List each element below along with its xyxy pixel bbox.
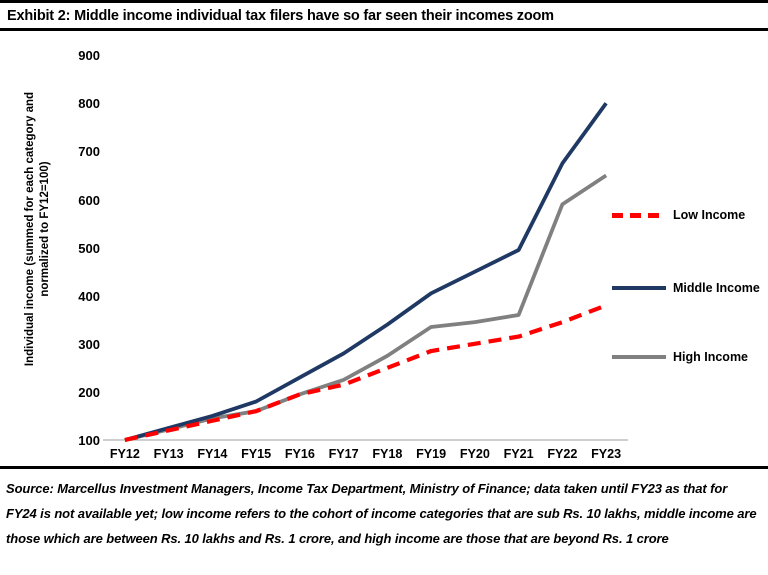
legend-item-middle-income[interactable]: Middle Income [612, 278, 760, 298]
legend-label: Low Income [673, 208, 745, 222]
x-tick-label: FY19 [409, 444, 453, 466]
line-chart-svg [103, 31, 628, 466]
y-tick-label: 900 [58, 49, 100, 62]
x-tick-label: FY23 [584, 444, 628, 466]
x-tick-label: FY14 [191, 444, 235, 466]
chart-area: Individual income (summed for each categ… [0, 31, 768, 466]
page-title: Exhibit 2: Middle income individual tax … [0, 8, 554, 24]
x-tick-label: FY16 [278, 444, 322, 466]
plot-region [103, 31, 628, 466]
y-tick-label: 400 [58, 290, 100, 303]
legend-item-low-income[interactable]: Low Income [612, 205, 745, 225]
legend-swatch-icon [612, 213, 666, 218]
x-tick-label: FY12 [103, 444, 147, 466]
source-note: Source: Marcellus Investment Managers, I… [6, 476, 760, 551]
footnote-area: Source: Marcellus Investment Managers, I… [0, 466, 768, 575]
exhibit-title-bar: Exhibit 2: Middle income individual tax … [0, 0, 768, 31]
y-tick-label: 200 [58, 386, 100, 399]
y-tick-label: 800 [58, 97, 100, 110]
y-axis-title: Individual income (summed for each categ… [23, 64, 53, 394]
y-tick-label: 500 [58, 242, 100, 255]
legend-swatch-icon [612, 355, 666, 359]
x-tick-label: FY20 [453, 444, 497, 466]
y-tick-label: 700 [58, 145, 100, 158]
exhibit-container: Exhibit 2: Middle income individual tax … [0, 0, 768, 575]
x-tick-label: FY18 [366, 444, 410, 466]
legend-item-high-income[interactable]: High Income [612, 347, 748, 367]
y-tick-label: 100 [58, 434, 100, 447]
x-axis-ticks: FY12FY13FY14FY15FY16FY17FY18FY19FY20FY21… [103, 444, 628, 466]
x-tick-label: FY13 [147, 444, 191, 466]
legend-label: High Income [673, 350, 748, 364]
series-line-high-income [125, 175, 606, 440]
x-tick-label: FY22 [541, 444, 585, 466]
y-tick-label: 600 [58, 194, 100, 207]
chart-legend: Low IncomeMiddle IncomeHigh Income [612, 205, 768, 365]
y-tick-label: 300 [58, 338, 100, 351]
y-axis-ticks: 900800700600500400300200100 [55, 31, 100, 466]
x-tick-label: FY15 [234, 444, 278, 466]
x-tick-label: FY21 [497, 444, 541, 466]
legend-label: Middle Income [673, 281, 760, 295]
x-tick-label: FY17 [322, 444, 366, 466]
legend-swatch-icon [612, 286, 666, 290]
